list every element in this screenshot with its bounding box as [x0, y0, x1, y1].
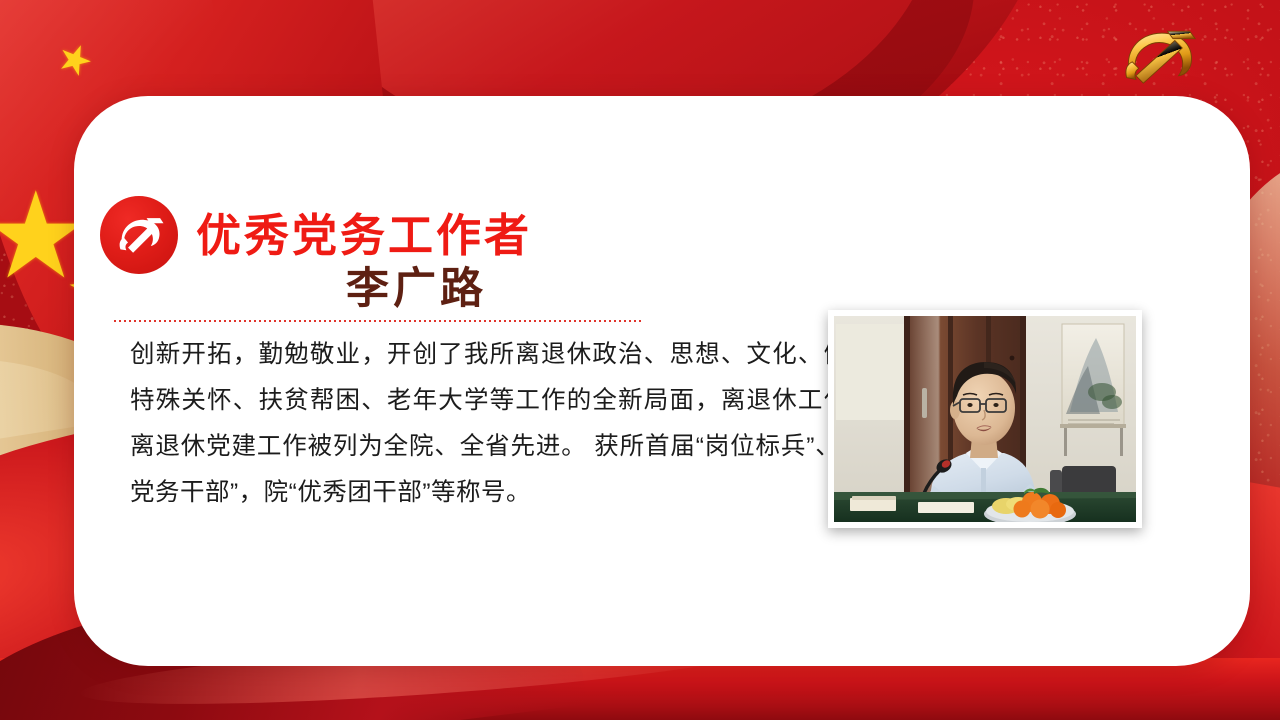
dotted-divider: [114, 320, 642, 322]
hammer-and-sickle-gold-emblem-icon: [1113, 22, 1207, 98]
party-emblem-badge-icon: [100, 196, 178, 274]
content-card: 优秀党务工作者 李广路 创新开拓，勤勉敬业，开创了我所离退休政治、思想、文化、健…: [74, 96, 1250, 666]
portrait-photo: [834, 316, 1136, 522]
portrait-photo-frame: [828, 310, 1142, 528]
description-paragraph: 创新开拓，勤勉敬业，开创了我所离退休政治、思想、文化、健康、特殊关怀、扶贫帮困、…: [130, 332, 900, 516]
slide-root: ★ ★ ★ ★ ★: [0, 0, 1280, 720]
person-name: 李广路: [346, 254, 487, 316]
